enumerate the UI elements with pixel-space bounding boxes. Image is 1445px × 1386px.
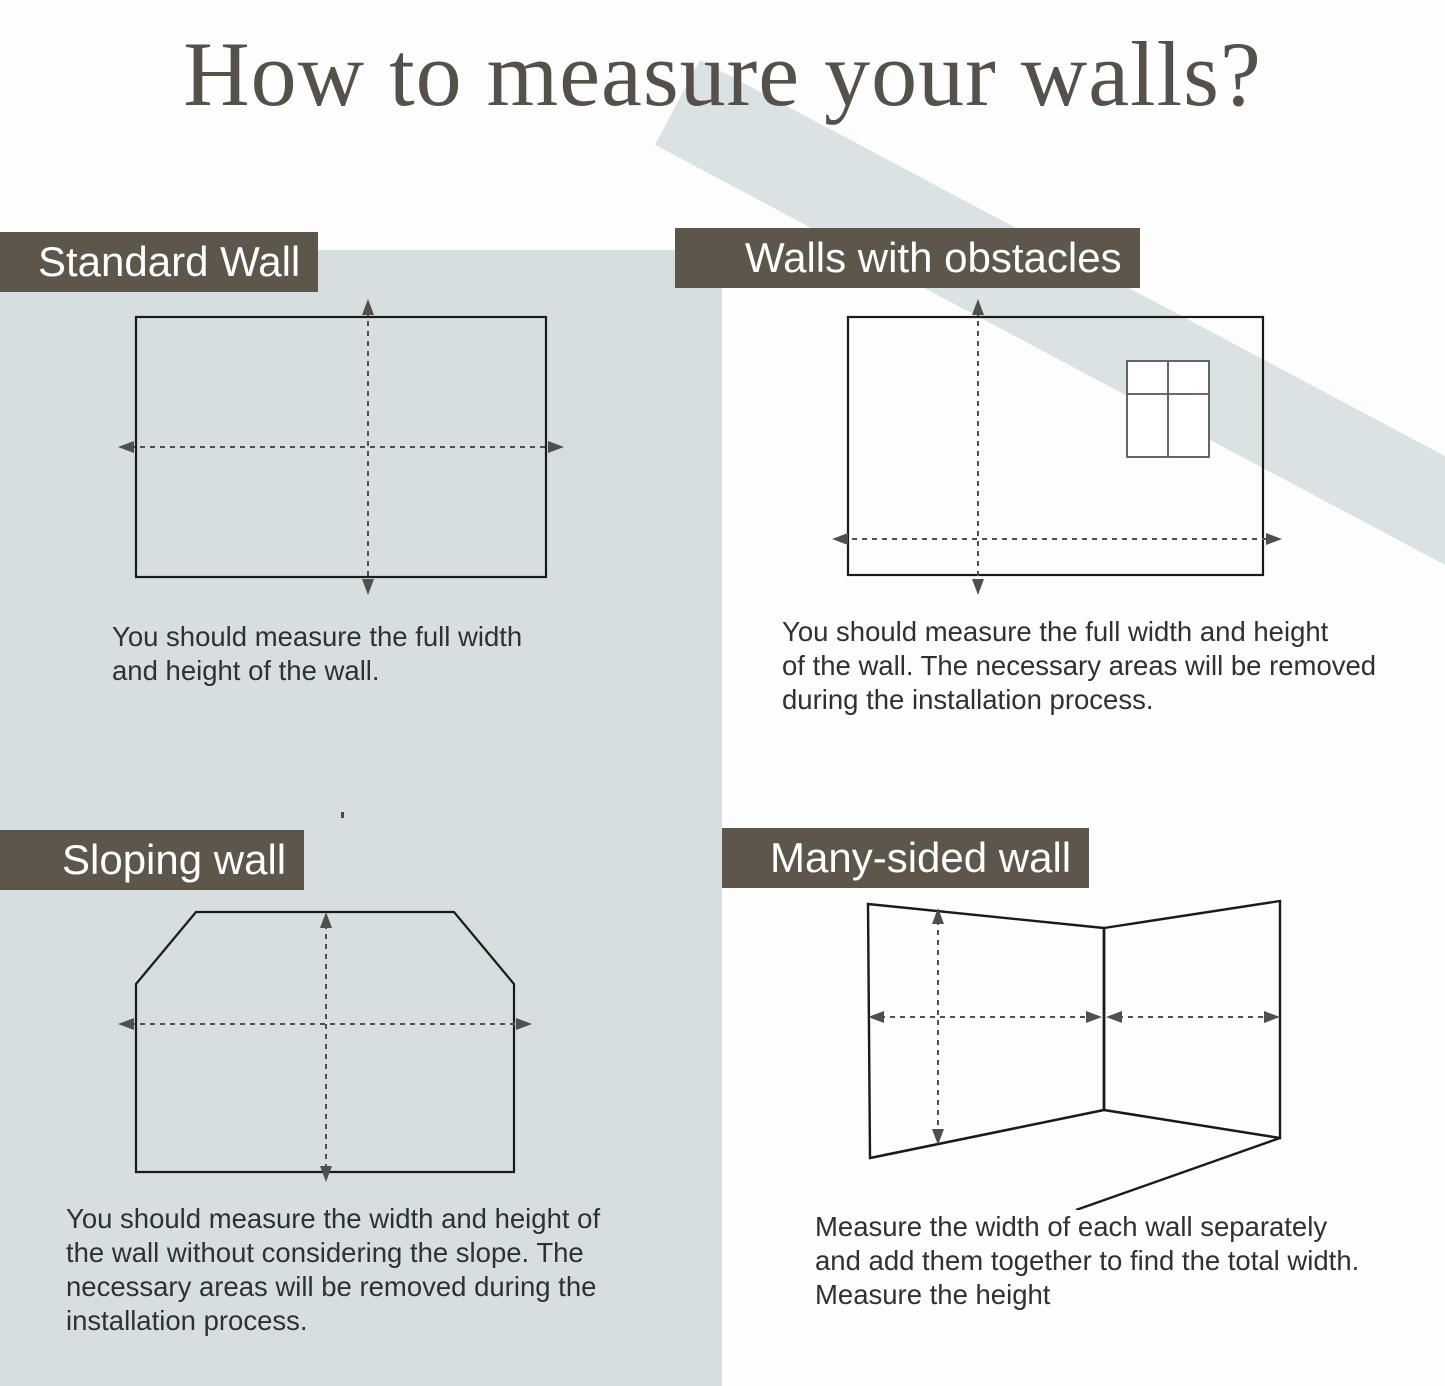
section-heading-sloping-wall: Sloping wall [0, 830, 304, 890]
caption-many-sided-wall: Measure the width of each wall separatel… [815, 1210, 1435, 1312]
walls-with-obstacles-diagram [830, 295, 1290, 595]
caption-standard-wall: You should measure the full width and he… [112, 620, 672, 688]
left-wall-width-dimension-arrow [868, 1011, 1102, 1023]
width-dimension-arrow [118, 441, 564, 453]
page-title: How to measure your walls? [0, 28, 1445, 120]
section-heading-many-sided-wall: Many-sided wall [722, 828, 1089, 888]
stray-mark [341, 812, 344, 818]
sloping-wall-diagram [100, 890, 620, 1190]
many-sided-wall-diagram [840, 890, 1310, 1210]
height-dimension-arrow [972, 299, 984, 595]
window-obstacle-icon [1127, 361, 1209, 457]
caption-walls-with-obstacles: You should measure the full width and he… [782, 615, 1422, 717]
standard-wall-diagram [100, 295, 620, 595]
section-heading-walls-with-obstacles: Walls with obstacles [675, 228, 1140, 288]
right-wall-width-dimension-arrow [1106, 1011, 1280, 1023]
wall-outline [136, 912, 514, 1172]
caption-sloping-wall: You should measure the width and height … [66, 1202, 666, 1338]
height-dimension-arrow [320, 912, 332, 1182]
height-dimension-arrow [932, 908, 944, 1145]
room-corner-3d-outline [868, 901, 1280, 1210]
width-dimension-arrow [832, 533, 1282, 545]
infographic-page: How to measure your walls? Standard Wall… [0, 0, 1445, 1386]
section-heading-standard-wall: Standard Wall [0, 232, 318, 292]
